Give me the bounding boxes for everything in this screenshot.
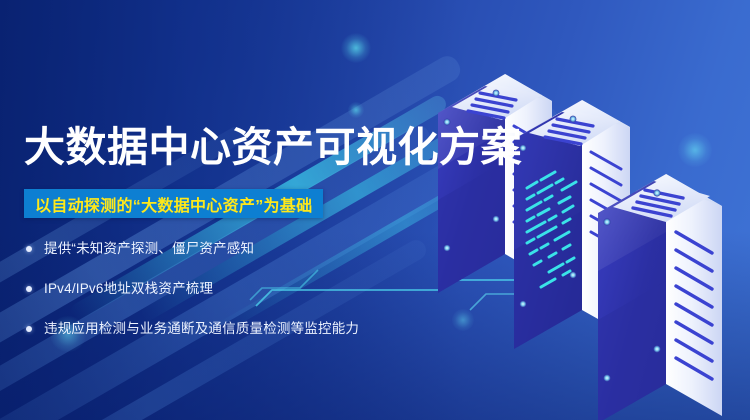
list-item-label: 违规应用检测与业务通断及通信质量检测等监控能力 [44,319,359,339]
list-item: IPv4/IPv6地址双栈资产梳理 [26,279,456,307]
server-racks-svg [430,0,750,420]
list-item: 提供“未知资产探测、僵尸资产感知 [26,239,456,267]
page-title: 大数据中心资产可视化方案 [24,123,522,171]
list-item-label: IPv4/IPv6地址双栈资产梳理 [44,279,213,299]
list-item-label: 提供“未知资产探测、僵尸资产感知 [44,239,254,259]
bullet-dot-icon [26,326,32,332]
banner-root: 大数据中心资产可视化方案 以自动探测的“大数据中心资产”为基础 提供“未知资产探… [0,0,750,420]
bullet-dot-icon [26,246,32,252]
feature-list: 提供“未知资产探测、僵尸资产感知 IPv4/IPv6地址双栈资产梳理 违规应用检… [26,239,456,359]
server-rack-3 [598,174,722,420]
server-racks-illustration [430,0,750,420]
subtitle-label: 以自动探测的“大数据中心资产”为基础 [35,192,312,216]
bullet-dot-icon [26,286,32,292]
text-content: 大数据中心资产可视化方案 以自动探测的“大数据中心资产”为基础 提供“未知资产探… [0,0,470,420]
subtitle-badge: 以自动探测的“大数据中心资产”为基础 [24,189,323,218]
list-item: 违规应用检测与业务通断及通信质量检测等监控能力 [26,319,456,347]
